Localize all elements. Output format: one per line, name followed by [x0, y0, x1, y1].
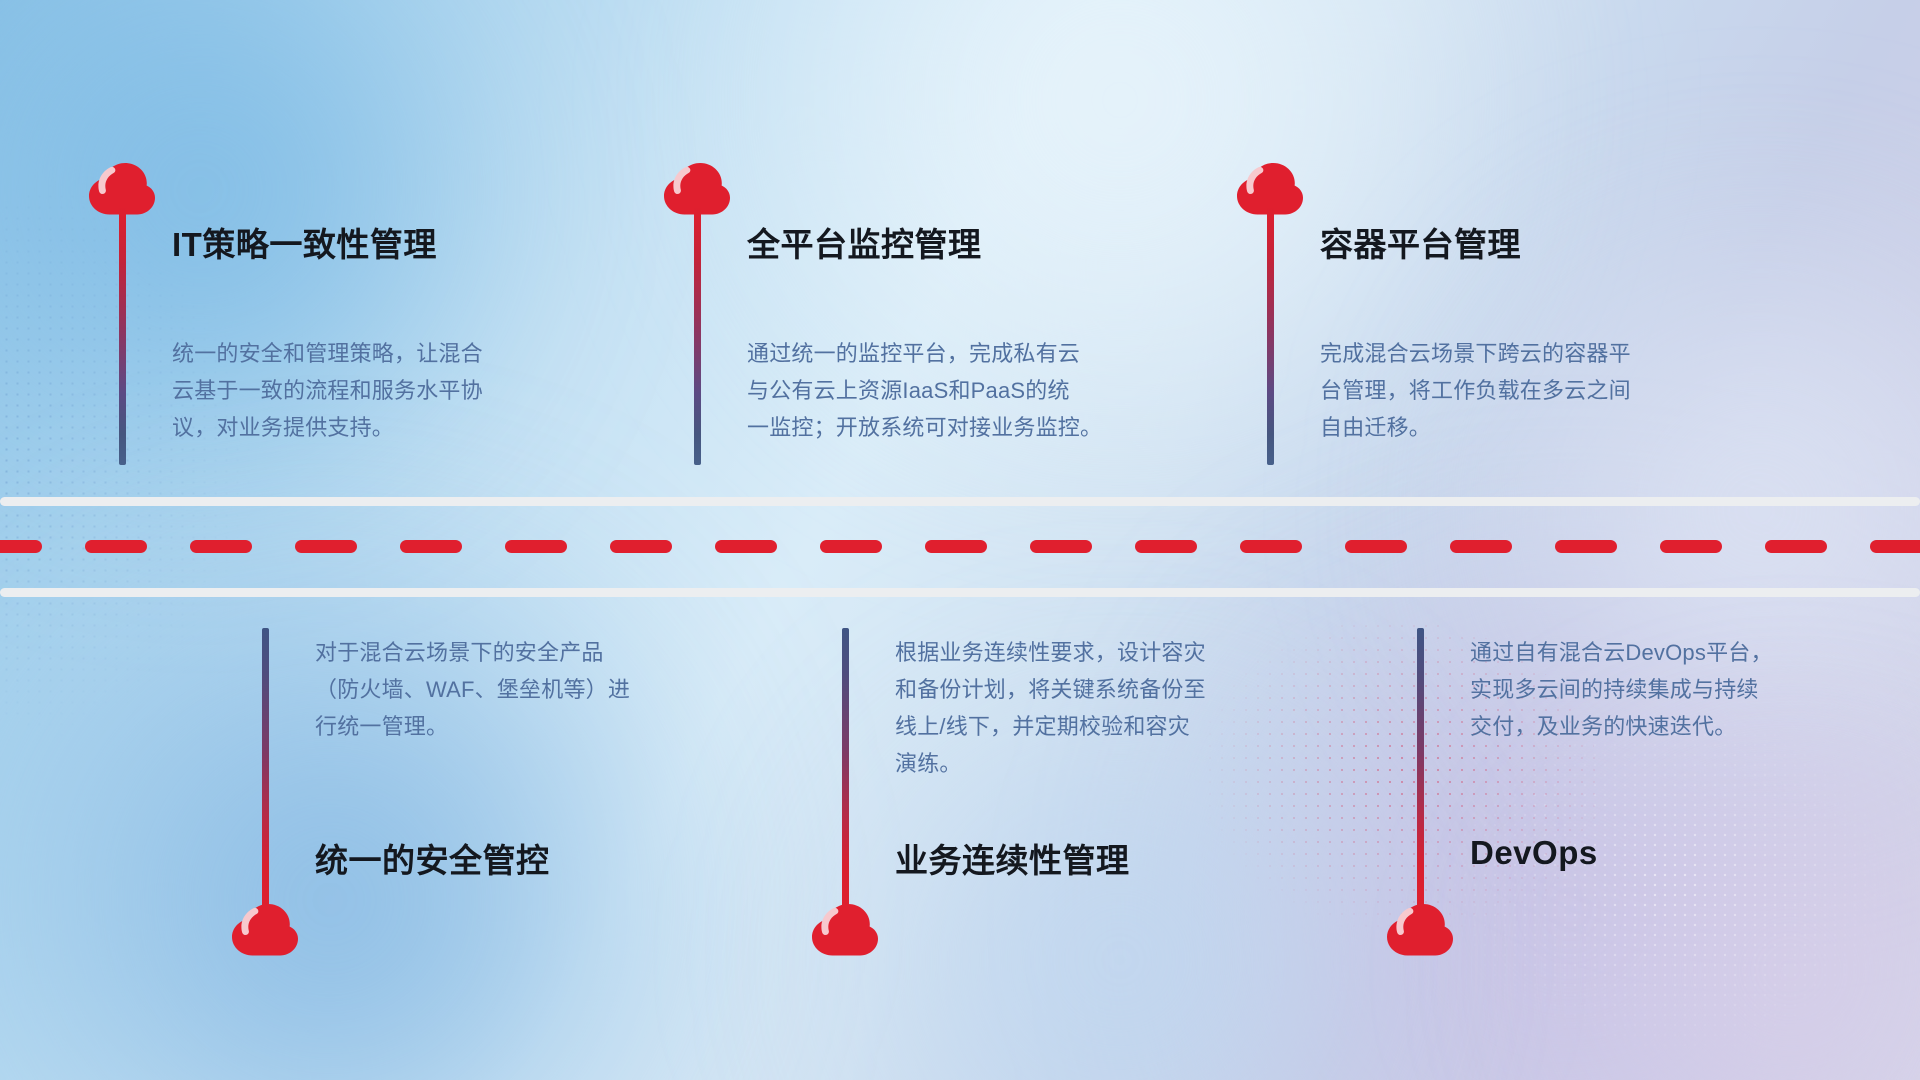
pin-body-line: 对于混合云场景下的安全产品: [315, 634, 630, 671]
pin-stem: [262, 628, 269, 918]
cloud-icon: [812, 904, 878, 956]
pin-body: 完成混合云场景下跨云的容器平台管理，将工作负载在多云之间自由迁移。: [1320, 335, 1631, 446]
pin-body-line: 统一的安全和管理策略，让混合: [172, 335, 483, 372]
divider-dash: [1870, 540, 1920, 553]
pin-body-line: 交付，及业务的快速迭代。: [1470, 708, 1773, 745]
pin-title: 全平台监控管理: [747, 218, 982, 266]
pin-body-line: 行统一管理。: [315, 708, 630, 745]
pin-body-line: 完成混合云场景下跨云的容器平: [1320, 335, 1631, 372]
divider-dash: [85, 540, 147, 553]
pin-body-line: 通过统一的监控平台，完成私有云: [747, 335, 1102, 372]
pin-title: DevOps: [1470, 834, 1598, 872]
divider-dash: [1135, 540, 1197, 553]
pin-body-line: 议，对业务提供支持。: [172, 409, 483, 446]
pin-stem: [119, 207, 126, 465]
divider-dash: [0, 540, 42, 553]
pin-stem: [1417, 628, 1424, 918]
pin-body: 对于混合云场景下的安全产品（防火墙、WAF、堡垒机等）进行统一管理。: [315, 634, 630, 745]
divider-dash: [1450, 540, 1512, 553]
pin-body-line: 实现多云间的持续集成与持续: [1470, 671, 1773, 708]
pin-body-line: 线上/线下，并定期校验和容灾: [895, 708, 1206, 745]
pin-title: 容器平台管理: [1320, 218, 1521, 266]
pin-body-line: 根据业务连续性要求，设计容灾: [895, 634, 1206, 671]
divider-dash: [1240, 540, 1302, 553]
divider-dash: [505, 540, 567, 553]
infographic-canvas: IT策略一致性管理 统一的安全和管理策略，让混合云基于一致的流程和服务水平协议，…: [0, 0, 1920, 1080]
pin-body-line: 自由迁移。: [1320, 409, 1631, 446]
pin-body: 统一的安全和管理策略，让混合云基于一致的流程和服务水平协议，对业务提供支持。: [172, 335, 483, 446]
pin-body: 通过自有混合云DevOps平台，实现多云间的持续集成与持续交付，及业务的快速迭代…: [1470, 634, 1773, 745]
divider-dash: [820, 540, 882, 553]
cloud-icon: [232, 904, 298, 956]
divider-dash: [1345, 540, 1407, 553]
pin-body-line: 与公有云上资源IaaS和PaaS的统: [747, 372, 1102, 409]
divider-rule-bottom: [0, 588, 1920, 597]
pin-stem: [842, 628, 849, 918]
pin-body-line: 通过自有混合云DevOps平台，: [1470, 634, 1773, 671]
divider-dash: [1555, 540, 1617, 553]
divider-rule-top: [0, 497, 1920, 506]
pin-body-line: 和备份计划，将关键系统备份至: [895, 671, 1206, 708]
divider-dash: [715, 540, 777, 553]
pin-title: 业务连续性管理: [895, 834, 1130, 882]
pin-body-line: 一监控；开放系统可对接业务监控。: [747, 409, 1102, 446]
pin-body-line: 演练。: [895, 745, 1206, 782]
pin-title: 统一的安全管控: [315, 834, 550, 882]
pin-body-line: （防火墙、WAF、堡垒机等）进: [315, 671, 630, 708]
divider-dash: [295, 540, 357, 553]
pin-body: 根据业务连续性要求，设计容灾和备份计划，将关键系统备份至线上/线下，并定期校验和…: [895, 634, 1206, 782]
pin-body-line: 云基于一致的流程和服务水平协: [172, 372, 483, 409]
divider-dash: [1765, 540, 1827, 553]
pin-title: IT策略一致性管理: [172, 218, 437, 266]
pin-stem: [1267, 207, 1274, 465]
pin-body-line: 台管理，将工作负载在多云之间: [1320, 372, 1631, 409]
pin-stem: [694, 207, 701, 465]
divider-dash: [925, 540, 987, 553]
halftone-dots-white: [1440, 700, 1900, 1060]
divider-dash: [400, 540, 462, 553]
cloud-icon: [1387, 904, 1453, 956]
pin-body: 通过统一的监控平台，完成私有云与公有云上资源IaaS和PaaS的统一监控；开放系…: [747, 335, 1102, 446]
divider-dash: [190, 540, 252, 553]
divider-dash: [1030, 540, 1092, 553]
divider-dash: [1660, 540, 1722, 553]
divider-dash: [610, 540, 672, 553]
